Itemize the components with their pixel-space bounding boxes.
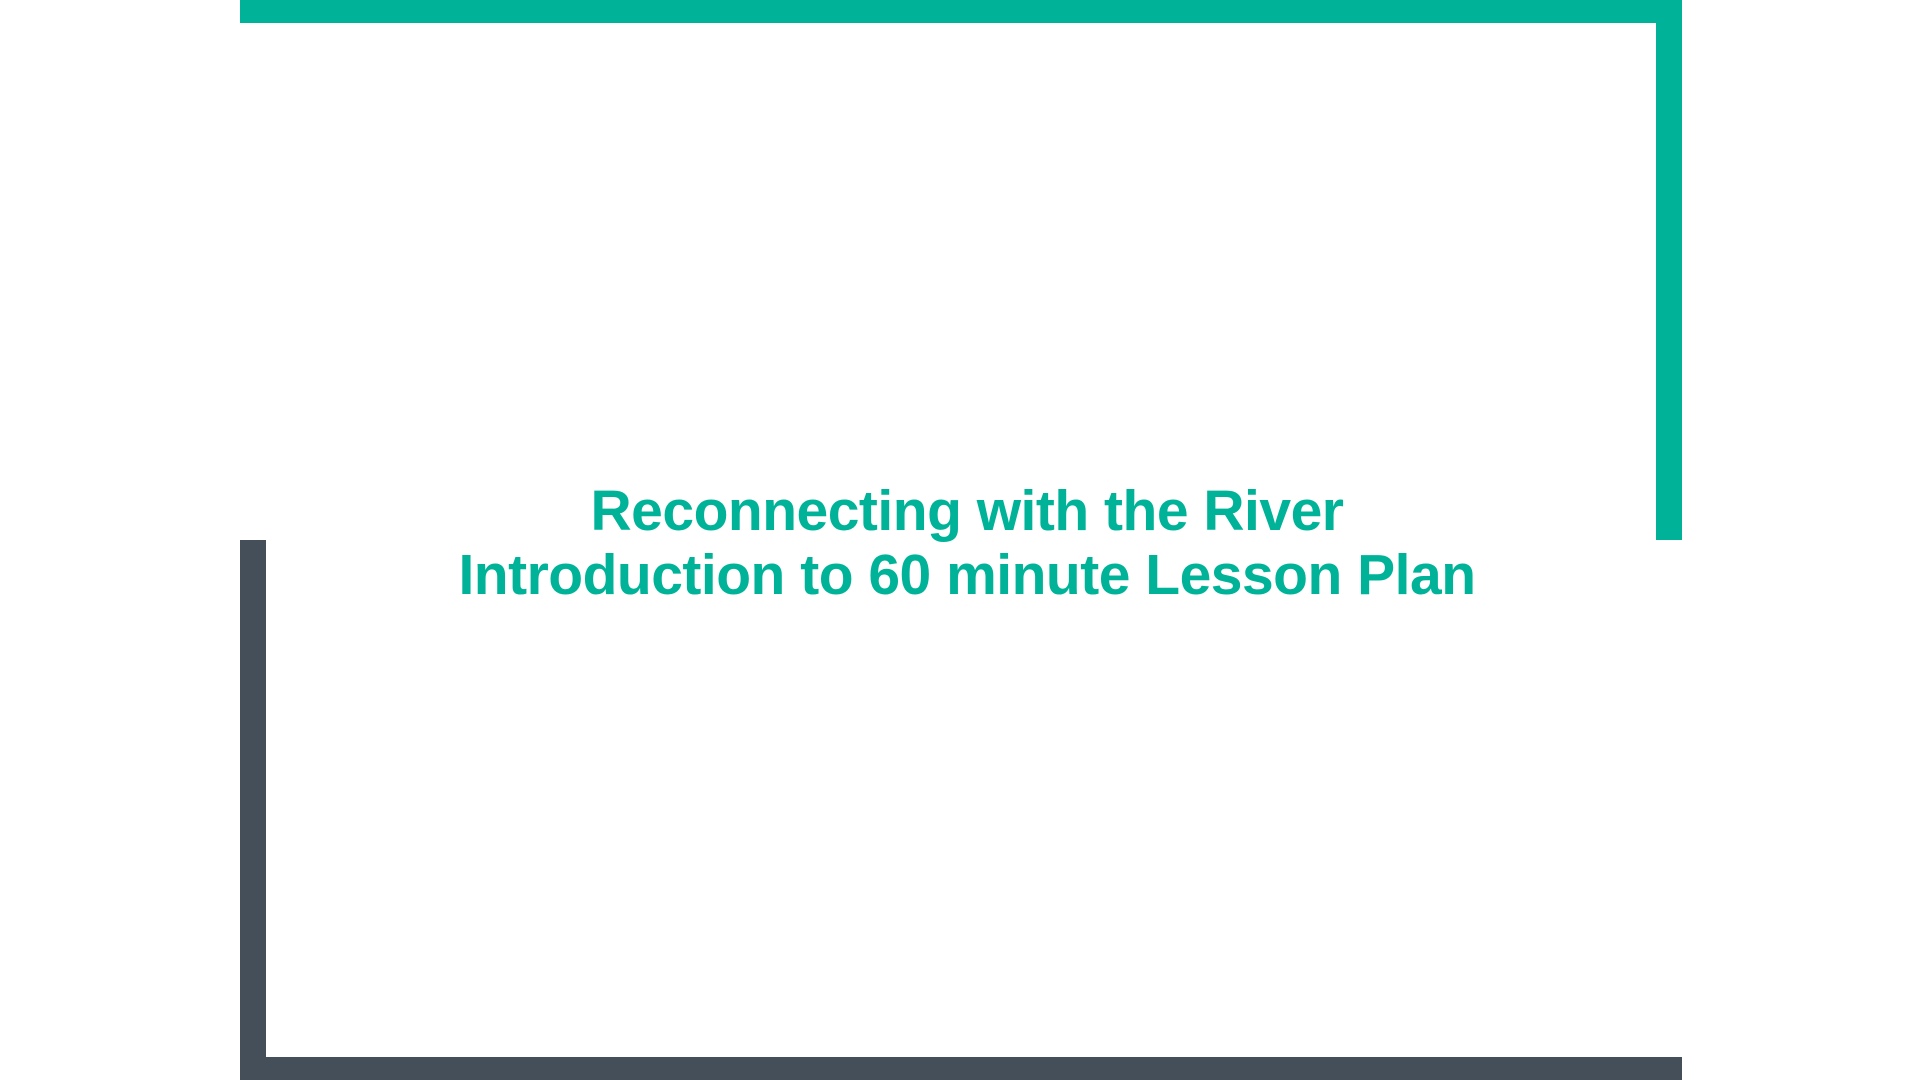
frame-accent-left-bar — [240, 540, 266, 1080]
slide-title-line-2: Introduction to 60 minute Lesson Plan — [266, 544, 1668, 608]
slide-title: Reconnecting with the River Introduction… — [266, 480, 1668, 608]
frame-accent-top-bar — [240, 0, 1682, 23]
slide-title-line-1: Reconnecting with the River — [266, 480, 1668, 544]
frame-accent-right-bar — [1656, 0, 1682, 540]
frame-accent-bottom-bar — [240, 1057, 1682, 1080]
title-slide: Reconnecting with the River Introduction… — [0, 0, 1920, 1080]
